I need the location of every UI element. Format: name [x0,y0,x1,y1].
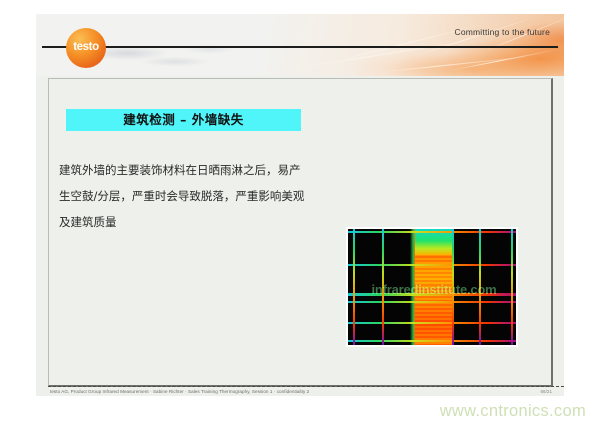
thermal-joint-h [348,301,516,303]
slide-body-text: 建筑外墙的主要装饰材料在日晒雨淋之后，易产 生空鼓/分层，严重时会导致脱落，严重… [59,157,389,235]
testo-logo: testo [66,28,106,68]
wheat-graphic [264,14,564,76]
body-line-1: 建筑外墙的主要装饰材料在日晒雨淋之后，易产 [59,157,389,183]
thermal-image-frame: infraredinstitute.com infraredinstitute.… [346,227,518,347]
thermal-joint-h [348,231,516,233]
slide-title: 建筑检测 – 外墙缺失 [66,109,301,131]
thermal-joint-h [348,322,516,324]
thermal-joint-h [348,340,516,342]
slide-content-panel: 建筑检测 – 外墙缺失 建筑外墙的主要装饰材料在日晒雨淋之后，易产 生空鼓/分层… [48,78,553,387]
thermal-infrared-image: infraredinstitute.com infraredinstitute.… [348,229,516,345]
thermal-watermark: infraredinstitute.com [350,282,516,297]
footer-page-number: 66/21 [541,389,553,394]
header-divider-line [42,46,558,48]
body-line-2: 生空鼓/分层，严重时会导致脱落，严重影响美观 [59,183,389,209]
site-watermark: www.cntronics.com [440,402,586,421]
header-tagline: Committing to the future [454,27,550,37]
body-line-3: 及建筑质量 [59,209,389,235]
thermal-joint-h [348,264,516,266]
logo-wordmark: testo [66,41,106,53]
presentation-slide: testo Committing to the future 建筑检测 – 外墙… [36,14,564,396]
footer-credit: testo AG, Product Group Infrared Measure… [50,389,309,394]
footer-divider [48,386,564,387]
slide-header: testo Committing to the future [36,14,564,76]
